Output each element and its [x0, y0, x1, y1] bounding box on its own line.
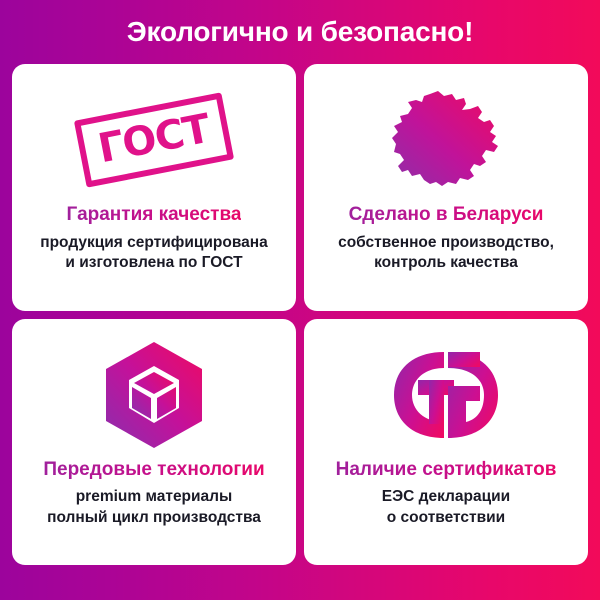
- card-body-line: ЕЭС декларации: [382, 487, 510, 507]
- card-title: Гарантия качества: [67, 204, 242, 226]
- card-body-line: полный цикл производства: [47, 508, 261, 528]
- card-body-line: собственное производство,: [338, 233, 554, 253]
- gost-stamp-frame: ГОСТ: [74, 92, 234, 187]
- hexagon-cube-icon: [22, 335, 286, 455]
- card-body-line: контроль качества: [338, 253, 554, 273]
- card-certificates[interactable]: Наличие сертификатов ЕЭС декларации о со…: [304, 319, 588, 566]
- card-body-line: и изготовлена по ГОСТ: [40, 253, 268, 273]
- gost-stamp-icon: ГОСТ: [22, 80, 286, 200]
- card-body: продукция сертифицирована и изготовлена …: [40, 233, 268, 274]
- header: Экологично и безопасно!: [0, 0, 600, 64]
- hexagon-cube-shape: [101, 340, 207, 450]
- card-made-in-belarus[interactable]: Сделано в Беларуси собственное производс…: [304, 64, 588, 311]
- infographic-page: Экологично и безопасно! ГОСТ Гарантия ка…: [0, 0, 600, 600]
- gost-stamp-label: ГОСТ: [95, 109, 213, 170]
- card-title: Передовые технологии: [43, 459, 264, 481]
- belarus-map-shape: [386, 84, 506, 196]
- card-body-line: о соответствии: [382, 508, 510, 528]
- card-quality-guarantee[interactable]: ГОСТ Гарантия качества продукция сертифи…: [12, 64, 296, 311]
- card-body-line: premium материалы: [47, 487, 261, 507]
- card-title: Сделано в Беларуси: [349, 204, 544, 226]
- stb-logo-shape: [388, 342, 504, 448]
- card-title: Наличие сертификатов: [336, 459, 557, 481]
- card-body: ЕЭС декларации о соответствии: [382, 487, 510, 528]
- card-advanced-technology[interactable]: Передовые технологии premium материалы п…: [12, 319, 296, 566]
- stb-certificate-icon: [314, 335, 578, 455]
- card-body-line: продукция сертифицирована: [40, 233, 268, 253]
- feature-card-grid: ГОСТ Гарантия качества продукция сертифи…: [12, 64, 588, 565]
- belarus-map-icon: [314, 80, 578, 200]
- card-body: premium материалы полный цикл производст…: [47, 487, 261, 528]
- card-body: собственное производство, контроль качес…: [338, 233, 554, 274]
- page-title: Экологично и безопасно!: [127, 16, 473, 48]
